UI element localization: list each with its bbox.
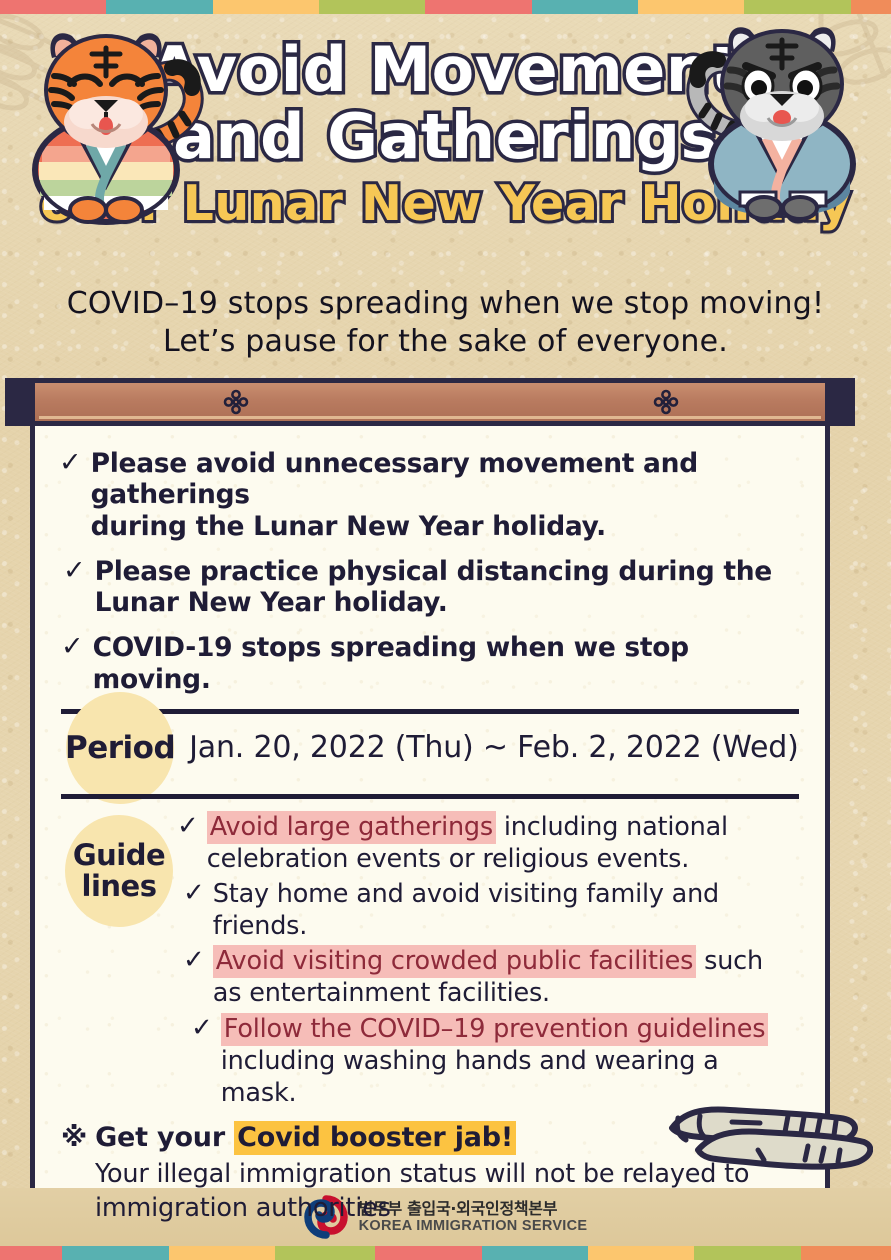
guideline-item: ✓ Avoid visiting crowded public faciliti… xyxy=(177,945,799,1009)
guideline-continuation: celebration events or religious events. xyxy=(207,844,689,874)
notice-bullet-line: Please practice physical distancing duri… xyxy=(95,556,772,587)
color-strip-segment xyxy=(375,1246,482,1260)
reference-mark-icon: ※ xyxy=(61,1122,87,1153)
highlight-pink: Avoid visiting crowded public facilities xyxy=(213,945,696,978)
booster-note-plain: Get your xyxy=(95,1122,234,1153)
color-strip-segment xyxy=(0,0,106,14)
booster-note-sub-line-1: Your illegal immigration status will not… xyxy=(95,1159,749,1189)
color-strip-segment xyxy=(106,0,213,14)
bottom-color-strip xyxy=(0,1246,891,1260)
guideline-item-list: ✓ Avoid large gatherings including natio… xyxy=(175,811,799,1112)
color-strip-segment xyxy=(0,1246,62,1260)
color-strip-segment xyxy=(213,0,319,14)
top-color-strip xyxy=(0,0,891,14)
guideline-item: ✓ Avoid large gatherings including natio… xyxy=(177,811,799,875)
highlight-pink: Avoid large gatherings xyxy=(207,811,496,844)
guidelines-label-line-1: Guide xyxy=(73,838,165,872)
guideline-text: Stay home and avoid visiting family and … xyxy=(213,878,799,942)
color-strip-segment xyxy=(482,1246,588,1260)
scroll-rod-cap-left xyxy=(5,378,35,426)
booster-note-heading-text: Get your Covid booster jab! xyxy=(95,1122,516,1153)
guidelines-label-line-2: lines xyxy=(82,869,157,903)
color-strip-segment xyxy=(694,1246,801,1260)
color-strip-segment xyxy=(588,1246,694,1260)
color-strip-segment xyxy=(169,1246,275,1260)
notice-bullet-line: during the Lunar New Year holiday. xyxy=(91,511,606,542)
subhead-line-1: COVID–19 stops spreading when we stop mo… xyxy=(0,285,891,323)
guideline-plain: such xyxy=(696,946,763,976)
scroll-top-rod xyxy=(30,378,830,426)
guideline-item: ✓ Stay home and avoid visiting family an… xyxy=(177,878,799,942)
color-strip-segment xyxy=(62,1246,169,1260)
highlight-yellow: Covid booster jab! xyxy=(234,1121,516,1155)
color-strip-segment xyxy=(425,0,532,14)
subhead-line-2: Let’s pause for the sake of everyone. xyxy=(0,323,891,361)
notice-bullet-line: Please avoid unnecessary movement and ga… xyxy=(91,448,698,510)
color-strip-segment xyxy=(532,0,638,14)
scroll-rod-cap-right xyxy=(825,378,855,426)
four-petal-flower-ornament xyxy=(653,389,679,415)
poster-root: Avoid Movement and Gatherings over Lunar… xyxy=(0,0,891,1260)
guidelines-section: Guide lines ✓ Avoid large gatherings inc… xyxy=(59,799,801,1116)
guideline-plain: including national xyxy=(496,812,728,842)
notice-bullet-text: Please avoid unnecessary movement and ga… xyxy=(91,448,801,542)
guideline-text: Avoid visiting crowded public facilities… xyxy=(213,945,763,1009)
color-strip-segment xyxy=(319,0,425,14)
period-label-badge: Period xyxy=(65,730,175,766)
notice-bullet-text: Please practice physical distancing duri… xyxy=(95,556,772,619)
guideline-continuation: including washing hands and wearing a ma… xyxy=(221,1046,719,1108)
gray-tiger-mascot xyxy=(678,14,883,226)
check-icon: ✓ xyxy=(183,945,205,977)
check-icon: ✓ xyxy=(177,811,199,843)
period-section: Period Jan. 20, 2022 (Thu) ~ Feb. 2, 202… xyxy=(59,714,801,782)
notice-bullet-list: ✓ Please avoid unnecessary movement and … xyxy=(59,448,801,695)
notice-bullet-line: Lunar New Year holiday. xyxy=(95,587,448,618)
color-strip-segment xyxy=(744,0,851,14)
notice-bullet-item: ✓ Please practice physical distancing du… xyxy=(59,556,801,619)
color-strip-segment xyxy=(275,1246,375,1260)
guidelines-label-badge: Guide lines xyxy=(63,813,175,929)
korean-traditional-shoes-illustration xyxy=(658,1094,873,1174)
check-icon: ✓ xyxy=(191,1013,213,1045)
orange-tiger-mascot xyxy=(6,18,216,233)
check-icon: ✓ xyxy=(183,878,205,910)
check-icon: ✓ xyxy=(63,556,86,586)
period-label: Period xyxy=(65,730,175,766)
notice-bullet-item: ✓ COVID-19 stops spreading when we stop … xyxy=(59,632,801,695)
highlight-pink: Follow the COVID–19 prevention guideline… xyxy=(221,1013,768,1046)
guideline-continuation: as entertainment facilities. xyxy=(213,978,550,1008)
period-value: Jan. 20, 2022 (Thu) ~ Feb. 2, 2022 (Wed) xyxy=(189,730,798,765)
guideline-plain: Stay home and avoid visiting family and … xyxy=(213,879,719,941)
poster-subhead: COVID–19 stops spreading when we stop mo… xyxy=(0,285,891,362)
notice-bullet-item: ✓ Please avoid unnecessary movement and … xyxy=(59,448,801,542)
four-petal-flower-ornament xyxy=(223,389,249,415)
booster-note-sub-line-2: immigration authorities xyxy=(95,1193,391,1223)
guidelines-label: Guide lines xyxy=(73,840,165,901)
notice-bullet-text: COVID-19 stops spreading when we stop mo… xyxy=(93,632,801,695)
color-strip-segment xyxy=(638,0,744,14)
check-icon: ✓ xyxy=(59,448,82,478)
notice-bullet-line: COVID-19 stops spreading when we stop mo… xyxy=(93,632,689,694)
color-strip-segment xyxy=(851,0,891,14)
check-icon: ✓ xyxy=(61,632,84,662)
color-strip-segment xyxy=(801,1246,891,1260)
guideline-text: Avoid large gatherings including nationa… xyxy=(207,811,728,875)
